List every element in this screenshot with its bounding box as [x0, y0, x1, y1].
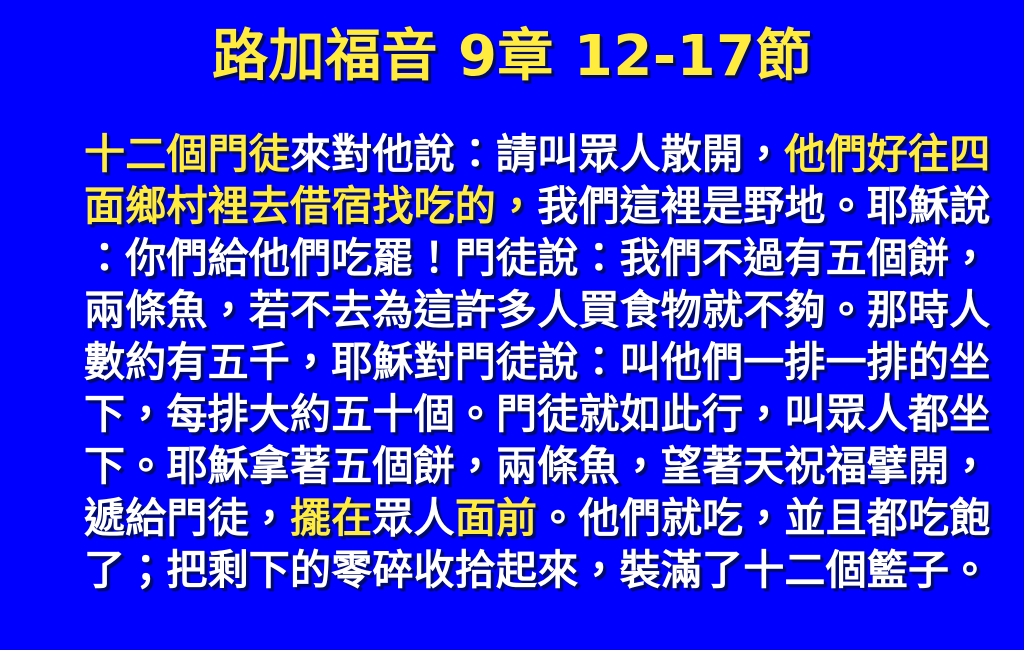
verse-text: 。他們就吃，並且都吃飽	[537, 494, 990, 542]
verse-line: 下，每排大約五十個。門徒就如此行，叫眾人都坐	[84, 388, 958, 440]
verse-text: 了；把剩下的零碎收拾起來，裝滿了十二個籃子。	[84, 546, 990, 594]
page-title: 路加福音 9章 12-17節	[212, 26, 812, 88]
verse-text: 來對他說：請叫眾人散開，	[290, 130, 784, 178]
verse-line: 下。耶穌拿著五個餅，兩條魚，望著天祝福擘開，	[84, 440, 958, 492]
verse-text: 數約有五千，耶穌對門徒說：叫他們一排一排的坐	[84, 338, 990, 386]
verse-text: 眾人	[372, 494, 454, 542]
verse-line: 數約有五千，耶穌對門徒說：叫他們一排一排的坐	[84, 336, 958, 388]
verse-text: 我們這裡是野地。耶穌說	[537, 182, 990, 230]
verse-text: 兩條魚，若不去為這許多人買食物就不夠。那時人	[84, 286, 990, 334]
highlighted-text: 十二個門徒	[84, 130, 290, 178]
scripture-slide: 路加福音 9章 12-17節 十二個門徒來對他說：請叫眾人散開，他們好往四面鄉村…	[0, 0, 1024, 650]
verse-text: 遞給門徒，	[84, 494, 290, 542]
highlighted-text: 擺在	[290, 494, 372, 542]
verse-line: 遞給門徒，擺在眾人面前。他們就吃，並且都吃飽	[84, 492, 958, 544]
highlighted-text: 他們好往四	[784, 130, 990, 178]
verse-line: 面鄉村裡去借宿找吃的，我們這裡是野地。耶穌說	[84, 180, 958, 232]
verse-text: ：你們給他們吃罷！門徒說：我們不過有五個餅，	[84, 234, 990, 282]
verse-line: ：你們給他們吃罷！門徒說：我們不過有五個餅，	[84, 232, 958, 284]
verse-line: 了；把剩下的零碎收拾起來，裝滿了十二個籃子。	[84, 544, 958, 596]
verse-body: 十二個門徒來對他說：請叫眾人散開，他們好往四面鄉村裡去借宿找吃的，我們這裡是野地…	[84, 128, 958, 596]
verse-line: 十二個門徒來對他說：請叫眾人散開，他們好往四	[84, 128, 958, 180]
title-container: 路加福音 9章 12-17節	[0, 26, 1024, 88]
highlighted-text: 面鄉村裡去借宿找吃的，	[84, 182, 537, 230]
verse-text: 下。耶穌拿著五個餅，兩條魚，望著天祝福擘開，	[84, 442, 990, 490]
verse-line: 兩條魚，若不去為這許多人買食物就不夠。那時人	[84, 284, 958, 336]
verse-text: 下，每排大約五十個。門徒就如此行，叫眾人都坐	[84, 390, 990, 438]
highlighted-text: 面前	[455, 494, 537, 542]
